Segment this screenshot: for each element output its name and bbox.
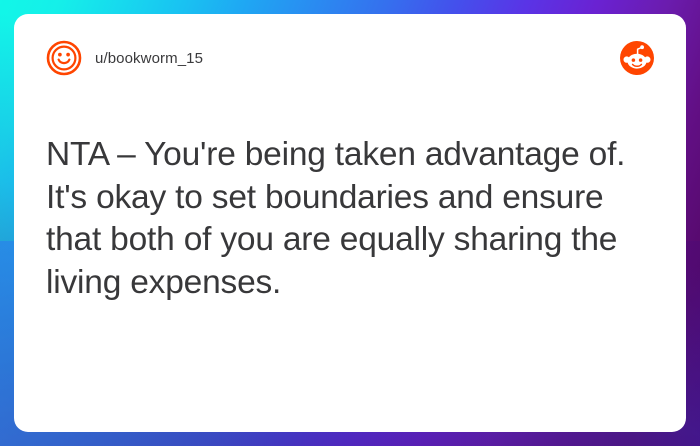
- reddit-snoo-logo-icon[interactable]: [620, 41, 654, 75]
- quote-card: u/bookworm_15: [14, 14, 686, 432]
- author-username: u/bookworm_15: [95, 50, 203, 67]
- quote-body: NTA – You're being taken advantage of. I…: [46, 78, 654, 412]
- smiley-face-avatar-icon: [46, 40, 82, 76]
- author-block[interactable]: u/bookworm_15: [46, 40, 203, 76]
- card-header: u/bookworm_15: [46, 38, 654, 78]
- quote-text: NTA – You're being taken advantage of. I…: [46, 134, 654, 304]
- gradient-backdrop: u/bookworm_15: [0, 0, 700, 446]
